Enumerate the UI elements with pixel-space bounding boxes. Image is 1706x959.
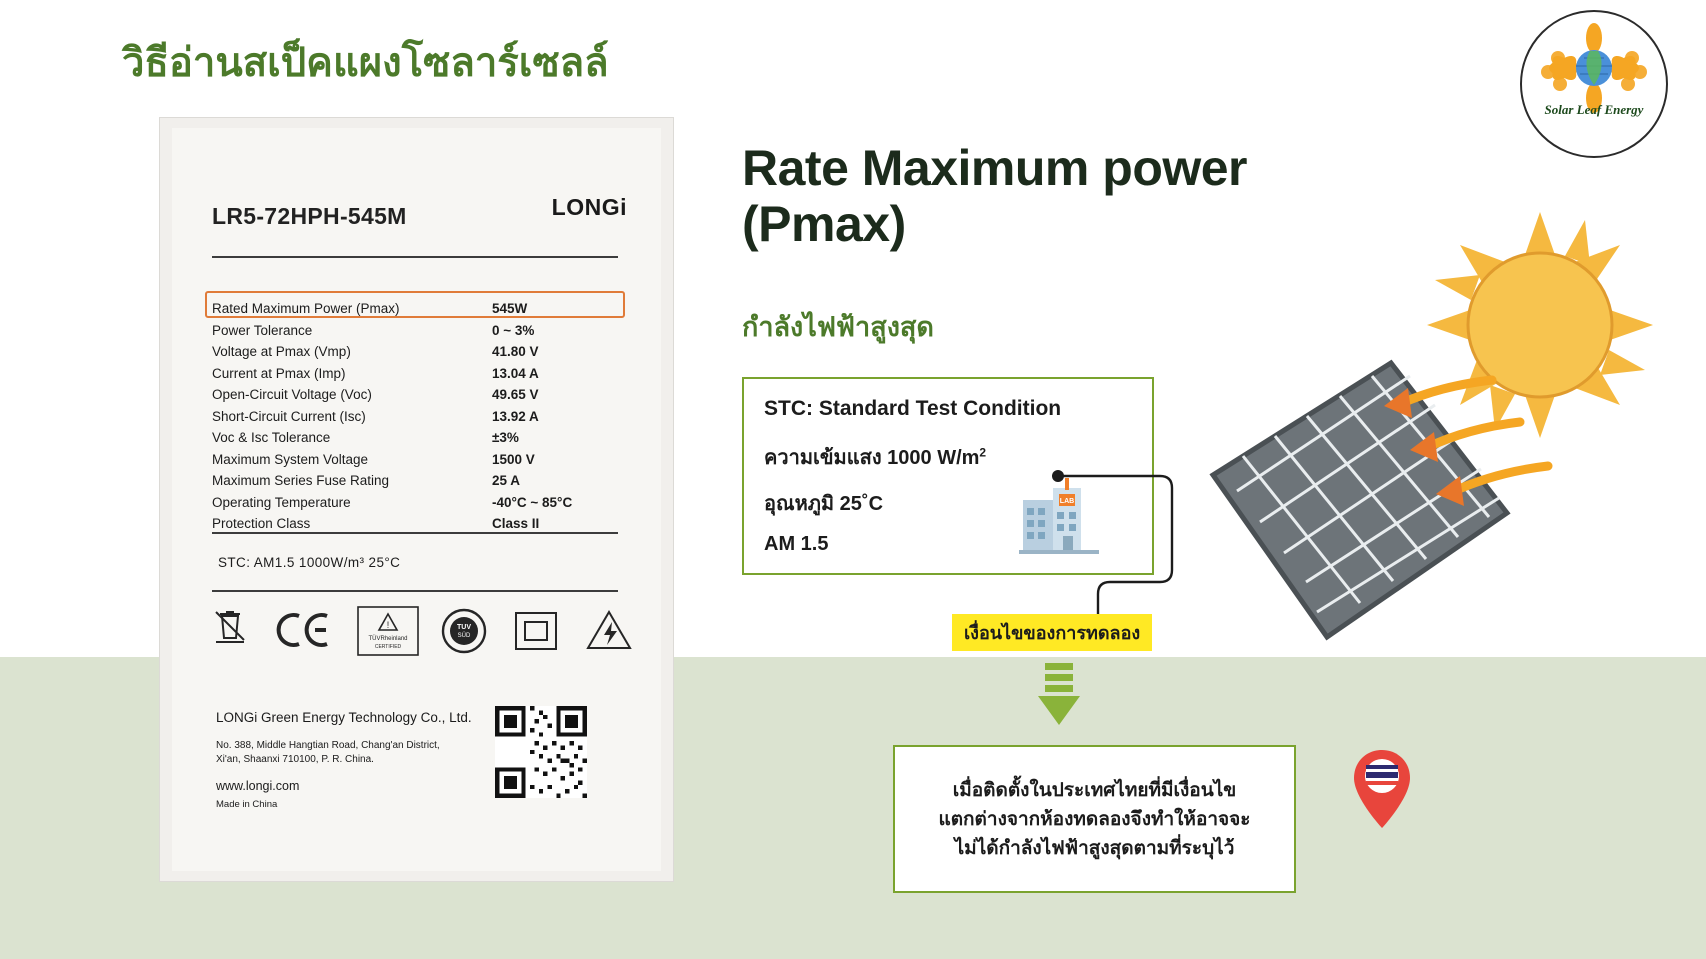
high-voltage-warning-icon [585,608,633,654]
result-box: เมื่อติดตั้งในประเทศไทยที่มีเงื่อนไข แตก… [893,745,1296,893]
table-row: Protection Class Class II [212,513,622,535]
table-row: Voc & Isc Tolerance ±3% [212,427,622,449]
spec-value: 25 A [492,470,622,492]
company-block: LONGi Green Energy Technology Co., Ltd. … [216,710,526,810]
tuv-rheinland-icon: ! TÜVRheinland CERTIFIED [357,606,419,656]
headline: Rate Maximum power (Pmax) [742,140,1462,252]
thailand-location-pin-icon [1352,748,1412,832]
svg-text:SÜD: SÜD [458,632,471,639]
spec-value: ±3% [492,427,622,449]
spec-value: 41.80 V [492,341,622,363]
logo-graphic [1520,10,1668,158]
spec-brand: LONGi [552,194,627,221]
stc-title: STC: Standard Test Condition [764,397,1061,421]
table-row: Short-Circuit Current (Isc) 13.92 A [212,406,622,428]
page-title: วิธีอ่านสเป็คแผงโซลาร์เซลล์ [122,30,609,94]
spec-value: 49.65 V [492,384,622,406]
headline-line2: (Pmax) [742,196,1462,252]
spec-value: -40°C ~ 85°C [492,492,622,514]
tuv-sud-icon: TUV SÜD [440,608,488,654]
spec-label: Power Tolerance [212,320,492,342]
spec-value: 0 ~ 3% [492,320,622,342]
stc-irradiance: ความเข้มแสง 1000 W/m2 [764,441,986,473]
slide-canvas: วิธีอ่านสเป็คแผงโซลาร์เซลล์ [0,0,1706,959]
down-arrow-icon [1036,663,1082,733]
svg-text:TUV: TUV [457,624,471,631]
spec-label: Voc & Isc Tolerance [212,427,492,449]
result-line3: ไม่ได้กำลังไฟฟ้าสูงสุดตามที่ระบุไว้ [938,834,1250,863]
table-row: Open-Circuit Voltage (Voc) 49.65 V [212,384,622,406]
table-row: Power Tolerance 0 ~ 3% [212,320,622,342]
spec-label: Maximum System Voltage [212,449,492,471]
company-address-line2: Xi'an, Shaanxi 710100, P. R. China. [216,753,526,767]
spec-table: Rated Maximum Power (Pmax) 545W Power To… [212,298,622,535]
spec-model: LR5-72HPH-545M [212,203,407,230]
divider-top [212,256,618,258]
stc-irradiance-label: ความเข้มแสง [764,447,887,469]
spec-value: 13.92 A [492,406,622,428]
headline-line1: Rate Maximum power [742,140,1462,196]
logo: Solar Leaf Energy [1520,10,1668,158]
result-line2: แตกต่างจากห้องทดลองจึงทำให้อาจจะ [938,805,1250,834]
qr-code [495,706,587,798]
company-made-in: Made in China [216,799,526,810]
condition-tag: เงื่อนไขของการทดลอง [952,614,1152,651]
result-text: เมื่อติดตั้งในประเทศไทยที่มีเงื่อนไข แตก… [938,776,1250,863]
spec-label: Rated Maximum Power (Pmax) [212,298,492,320]
ce-mark-icon [275,610,333,650]
spec-stc-line: STC: AM1.5 1000W/m³ 25°C [218,555,400,570]
certification-icons: ! TÜVRheinland CERTIFIED TUV SÜD [212,606,632,666]
company-address-line1: No. 388, Middle Hangtian Road, Chang'an … [216,739,526,753]
divider-bottom [212,590,618,592]
svg-text:CERTIFIED: CERTIFIED [375,644,402,650]
svg-text:TÜVRheinland: TÜVRheinland [368,635,407,642]
spec-label: Open-Circuit Voltage (Voc) [212,384,492,406]
result-line1: เมื่อติดตั้งในประเทศไทยที่มีเงื่อนไข [938,776,1250,805]
spec-label: Protection Class [212,513,492,535]
spec-label: Operating Temperature [212,492,492,514]
spec-label: Current at Pmax (Imp) [212,363,492,385]
spec-value: 13.04 A [492,363,622,385]
company-name: LONGi Green Energy Technology Co., Ltd. [216,710,526,725]
class-ii-icon [512,609,560,653]
spec-brand-text: LONGi [552,194,627,220]
table-row: Operating Temperature -40°C ~ 85°C [212,492,622,514]
spec-value: 1500 V [492,449,622,471]
sunlight-arrows [1380,370,1630,550]
spec-label: Maximum Series Fuse Rating [212,470,492,492]
table-row: Maximum System Voltage 1500 V [212,449,622,471]
table-row: Maximum Series Fuse Rating 25 A [212,470,622,492]
spec-sheet-photo: LR5-72HPH-545M LONGi Rated Maximum Power… [160,118,673,881]
spec-label: Voltage at Pmax (Vmp) [212,341,492,363]
logo-text: Solar Leaf Energy [1520,102,1668,118]
wee-bin-icon [212,606,248,652]
table-row: Current at Pmax (Imp) 13.04 A [212,363,622,385]
company-website: www.longi.com [216,779,526,793]
svg-text:!: ! [387,620,390,630]
stc-irradiance-value: 1000 W/m [887,447,979,469]
spec-value: Class II [492,513,622,535]
spec-sheet-label: LR5-72HPH-545M LONGi Rated Maximum Power… [172,128,661,871]
stc-irradiance-exponent: 2 [979,445,986,459]
spec-label: Short-Circuit Current (Isc) [212,406,492,428]
table-row: Voltage at Pmax (Vmp) 41.80 V [212,341,622,363]
stc-air-mass: AM 1.5 [764,533,828,556]
table-row: Rated Maximum Power (Pmax) 545W [212,298,622,320]
headline-subtitle: กำลังไฟฟ้าสูงสุด [742,305,934,348]
stc-temperature: อุณหภูมิ 25˚C [764,487,883,519]
spec-value: 545W [492,298,622,320]
